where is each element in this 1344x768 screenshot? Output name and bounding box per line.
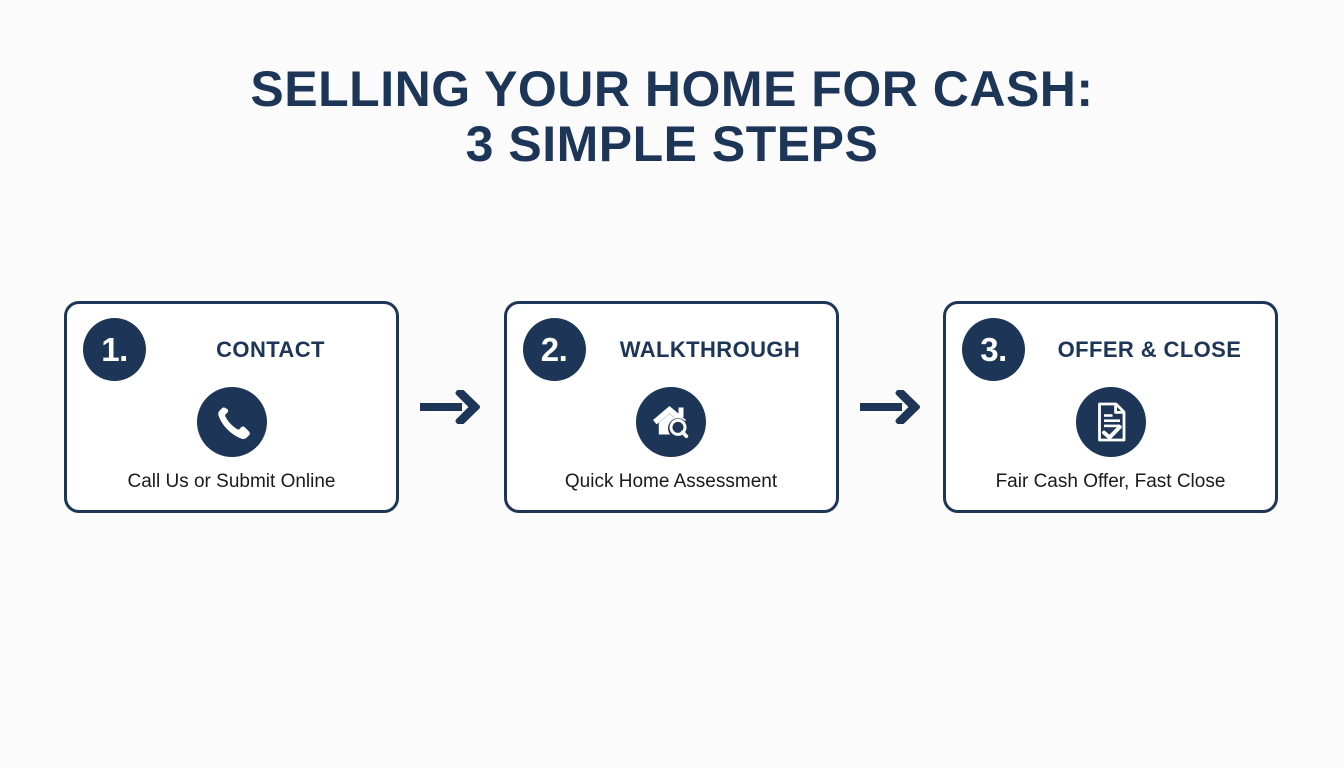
step-number-badge-3: 3. xyxy=(962,318,1025,381)
step-heading-2: WALKTHROUGH xyxy=(595,337,826,363)
step-card-walkthrough[interactable]: 2. WALKTHROUGH xyxy=(504,301,839,513)
steps-row: 1. CONTACT Call Us or Submit Online 2. W… xyxy=(64,301,1278,513)
step-card-contact[interactable]: 1. CONTACT Call Us or Submit Online xyxy=(64,301,399,513)
document-check-icon xyxy=(1091,401,1131,443)
step-icon-disc-3 xyxy=(1076,387,1146,457)
page-title: SELLING YOUR HOME FOR CASH: 3 SIMPLE STE… xyxy=(0,62,1344,172)
step-number-badge-2: 2. xyxy=(523,318,586,381)
step-heading-1: CONTACT xyxy=(155,337,386,363)
page-title-line-1: SELLING YOUR HOME FOR CASH: xyxy=(0,62,1344,117)
step-caption-2: Quick Home Assessment xyxy=(515,470,828,493)
step-icon-disc-1 xyxy=(197,387,267,457)
step-number-label-2: 2. xyxy=(541,333,568,366)
arrow-right-icon xyxy=(860,390,922,424)
connector-arrow-1 xyxy=(420,385,482,429)
step-caption-3: Fair Cash Offer, Fast Close xyxy=(954,470,1267,493)
step-icon-disc-2 xyxy=(636,387,706,457)
step-number-label-1: 1. xyxy=(101,333,128,366)
step-card-offer-close[interactable]: 3. OFFER & CLOSE Fair Cash Offer, Fast C… xyxy=(943,301,1278,513)
step-number-badge-1: 1. xyxy=(83,318,146,381)
connector-arrow-2 xyxy=(860,385,922,429)
step-caption-1: Call Us or Submit Online xyxy=(75,470,388,493)
phone-icon xyxy=(212,402,252,442)
step-number-label-3: 3. xyxy=(980,333,1007,366)
house-search-icon xyxy=(650,401,692,443)
page-title-line-2: 3 SIMPLE STEPS xyxy=(0,117,1344,172)
arrow-right-icon xyxy=(420,390,482,424)
step-heading-3: OFFER & CLOSE xyxy=(1034,337,1265,363)
